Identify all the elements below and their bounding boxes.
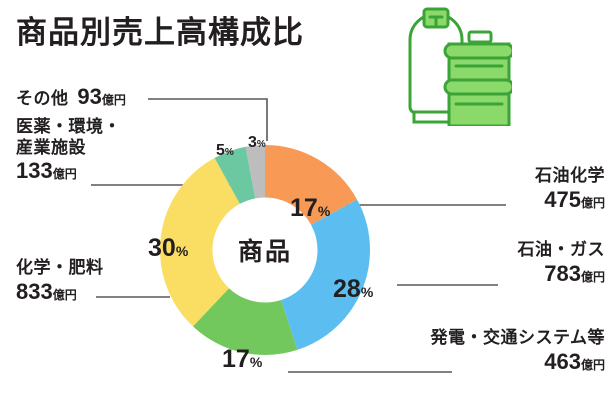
- slice-percent-sonota: 3%: [248, 135, 266, 151]
- slice-percent-value: 3: [248, 134, 257, 151]
- slice-percent-iyaku: 5%: [216, 143, 234, 159]
- slice-percent-hatsuden: 17%: [222, 347, 262, 372]
- callout-value: 93: [77, 84, 101, 109]
- callout-unit: 億円: [53, 288, 77, 302]
- callout-name-line2: 産業施設: [16, 138, 121, 159]
- slice-percent-value: 28: [333, 275, 361, 303]
- callout-name: 発電・交通システム等: [431, 328, 606, 349]
- percent-sign: %: [257, 139, 266, 150]
- gas-cylinder-oil-drum-icon: [396, 4, 512, 126]
- callout-value: 833: [16, 279, 53, 304]
- callout-unit: 億円: [581, 270, 605, 284]
- slice-percent-value: 30: [148, 234, 176, 262]
- callout-label-sonota: その他 93億円: [16, 84, 126, 111]
- callout-name-line1: 医薬・環境・: [16, 117, 121, 138]
- callout-name: その他: [16, 89, 69, 108]
- callout-unit: 億円: [581, 358, 605, 372]
- callout-value: 475: [544, 187, 581, 212]
- callout-value: 783: [544, 261, 581, 286]
- callout-label-kagaku: 化学・肥料 833億円: [16, 258, 104, 306]
- slice-percent-sekiyugas: 28%: [333, 277, 373, 302]
- callout-unit: 億円: [581, 196, 605, 210]
- page-title: 商品別売上高構成比: [16, 16, 304, 50]
- callout-name: 化学・肥料: [16, 258, 104, 279]
- callout-unit: 億円: [53, 167, 77, 181]
- chart-page: 商品別売上高構成比: [0, 0, 613, 406]
- percent-sign: %: [318, 203, 330, 219]
- callout-label-hatsuden: 発電・交通システム等 463億円: [431, 328, 606, 376]
- slice-percent-value: 5: [216, 142, 225, 159]
- percent-sign: %: [176, 243, 188, 259]
- slice-percent-value: 17: [290, 194, 318, 222]
- percent-sign: %: [250, 354, 262, 370]
- callout-value: 133: [16, 158, 53, 183]
- percent-sign: %: [225, 147, 234, 158]
- callout-value: 463: [544, 349, 581, 374]
- donut-chart: [160, 145, 370, 355]
- percent-sign: %: [361, 284, 373, 300]
- slice-percent-sekiyukagaku: 17%: [290, 196, 330, 221]
- callout-name: 石油化学: [535, 166, 605, 187]
- callout-label-sekiyugas: 石油・ガス 783億円: [518, 240, 606, 288]
- slice-percent-value: 17: [222, 345, 250, 373]
- callout-name: 石油・ガス: [518, 240, 606, 261]
- slice-percent-kagaku: 30%: [148, 236, 188, 261]
- callout-label-iyaku: 医薬・環境・ 産業施設 133億円: [16, 117, 121, 185]
- callout-unit: 億円: [102, 93, 126, 107]
- callout-label-sekiyukagaku: 石油化学 475億円: [535, 166, 605, 214]
